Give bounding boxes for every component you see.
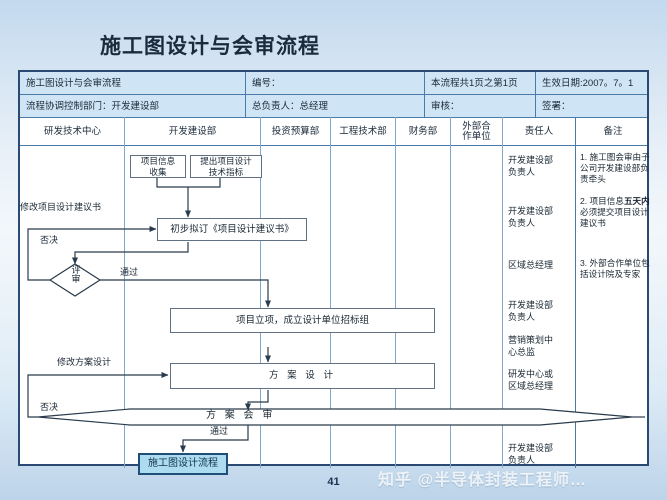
meta-row-divider-1: [20, 94, 647, 95]
owner-entry-4-text: 开发建设部 负责人: [508, 300, 553, 322]
process-table: 施工图设计与会审流程 编号： 本流程共1页之第1页 生效日期:2007。7。1 …: [18, 70, 649, 466]
col-divider-3: [330, 117, 331, 468]
owner-entry-1: 开发建设部 负责人: [508, 154, 582, 178]
owner-entry-4: 开发建设部 负责人: [508, 299, 582, 323]
node-scheme-review-text: 方 案 会 审: [206, 410, 275, 421]
label-pass-2: 通过: [210, 427, 228, 437]
owner-entry-6: 研发中心或 区域总经理: [508, 368, 582, 392]
meta-cell-page-count: 本流程共1页之第1页: [427, 73, 533, 94]
meta-cell-owner: 总负责人：总经理: [248, 96, 422, 117]
meta-row-divider-2: [20, 117, 647, 118]
label-reject-2: 否决: [40, 403, 58, 413]
slide-root: 施工图设计与会审流程 施工图设计与会审流程 编号： 本流程共1页之第1页 生效日…: [0, 0, 667, 500]
owner-entry-3-text: 区域总经理: [508, 260, 553, 270]
col-divider-4: [395, 117, 396, 468]
column-header-external-line2: 作单位: [462, 132, 491, 142]
node-scheme-review-label: 方 案 会 审: [206, 410, 275, 421]
decision-diamond-review: [50, 264, 100, 296]
node-draft-proposal-label: 初步拟订《项目设计建议书》: [170, 224, 294, 235]
label-pass-1: 通过: [120, 268, 138, 278]
node-scheme-design-label: 方 案 设 计: [269, 370, 336, 381]
label-modify-proposal: 修改项目设计建议书: [20, 203, 101, 213]
node-construction-flow[interactable]: 施工图设计流程: [138, 453, 228, 475]
node-info-collect-label: 项目信息 收集: [141, 156, 175, 177]
node-construction-flow-label: 施工图设计流程: [148, 458, 218, 470]
owner-entry-6-text: 研发中心或 区域总经理: [508, 369, 553, 391]
meta-cell-control-dept: 流程协调控制部门：开发建设部: [22, 96, 242, 117]
column-header-responsible-person: 责任人: [503, 119, 575, 144]
meta-vline-r1-c: [535, 72, 536, 117]
decision-review-label: 评审: [70, 266, 82, 284]
col-divider-1: [124, 117, 125, 468]
node-tech-index-label: 提出项目设计 技术指标: [200, 156, 252, 177]
col-divider-2: [260, 117, 261, 468]
remark-item-3: 3. 外部合作单位包括设计院及专家: [580, 258, 654, 280]
owner-entry-3: 区域总经理: [508, 259, 582, 271]
column-header-finance: 财务部: [396, 119, 450, 144]
owner-entry-5: 营销策划中 心总监: [508, 334, 582, 358]
watermark: 知乎 @半导体封装工程师…: [378, 466, 587, 490]
column-header-dev-construction: 开发建设部: [125, 119, 260, 144]
column-header-investment-budget: 投资预算部: [261, 119, 330, 144]
node-info-collect[interactable]: 项目信息 收集: [130, 155, 186, 178]
column-header-remarks: 备注: [576, 119, 650, 144]
col-divider-5: [450, 117, 451, 468]
owner-entry-7: 开发建设部 负责人: [508, 442, 582, 466]
title-area: 施工图设计与会审流程: [0, 14, 667, 58]
meta-cell-process-name: 施工图设计与会审流程: [22, 73, 242, 94]
node-draft-proposal[interactable]: 初步拟订《项目设计建议书》: [157, 218, 307, 241]
owner-entry-1-text: 开发建设部 负责人: [508, 155, 553, 177]
col-divider-6: [502, 117, 503, 468]
meta-vline-r1-b: [424, 72, 425, 117]
meta-cell-audit: 审核：: [427, 96, 533, 117]
meta-vline-r1-a: [245, 72, 246, 117]
owner-entry-5-text: 营销策划中 心总监: [508, 335, 553, 357]
meta-cell-effective-date: 生效日期:2007。7。1: [538, 73, 650, 94]
column-header-external-partner: 外部合 作单位: [451, 119, 502, 144]
meta-cell-number: 编号：: [248, 73, 422, 94]
owner-entry-7-text: 开发建设部 负责人: [508, 443, 553, 465]
remark-item-1: 1. 施工图会审由子公司开发建设部负责牵头: [580, 152, 654, 186]
owner-entry-2: 开发建设部 负责人: [508, 205, 582, 229]
column-header-rnd-center: 研发技术中心: [21, 119, 124, 144]
column-header-external-line1: 外部合: [462, 122, 491, 132]
page-title: 施工图设计与会审流程: [100, 30, 320, 60]
column-header-engineering-tech: 工程技术部: [331, 119, 395, 144]
node-tech-index[interactable]: 提出项目设计 技术指标: [190, 155, 262, 178]
hexagon-scheme-review: [38, 409, 632, 425]
remark-item-2: 2. 项目信息五天内必须提交项目设计建议书: [580, 196, 654, 230]
decision-review-text: 评审: [71, 265, 80, 284]
node-project-setup-label: 项目立项，成立设计单位招标组: [236, 315, 369, 326]
column-header-divider: [20, 145, 647, 146]
label-reject-1: 否决: [40, 236, 58, 246]
label-modify-scheme: 修改方案设计: [57, 358, 111, 368]
meta-cell-signature: 签署：: [538, 96, 650, 117]
owner-entry-2-text: 开发建设部 负责人: [508, 206, 553, 228]
